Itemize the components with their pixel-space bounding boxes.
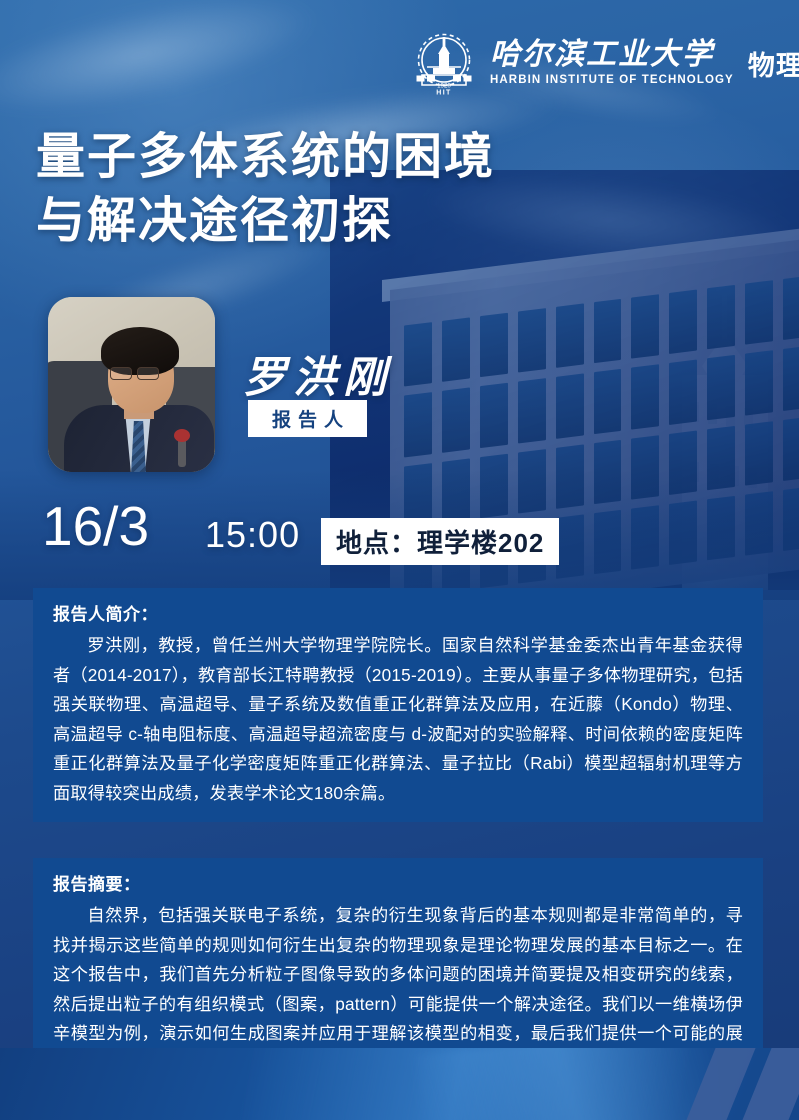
hit-emblem-icon: 1920 HIT	[408, 27, 480, 99]
event-time: 15:00	[205, 517, 300, 553]
bio-text: 罗洪刚，教授，曾任兰州大学物理学院院长。国家自然科学基金委杰出青年基金获得者（2…	[53, 631, 743, 808]
university-name-en: HARBIN INSTITUTE OF TECHNOLOGY	[490, 75, 734, 87]
microphone-head-icon	[174, 429, 190, 442]
seminar-poster: 1920 HIT 哈尔滨工业大学 HARBIN INSTITUTE OF TEC…	[0, 0, 799, 1120]
abstract-heading: 报告摘要：	[53, 870, 743, 895]
title-line-2: 与解决途径初探	[36, 190, 516, 254]
speaker-bio-panel: 报告人简介： 罗洪刚，教授，曾任兰州大学物理学院院长。国家自然科学基金委杰出青年…	[33, 588, 763, 822]
poster-title: 量子多体系统的困境 与解决途径初探	[36, 126, 516, 253]
university-name-cn: 哈尔滨工业大学	[490, 40, 734, 70]
speaker-role-badge: 报告人	[248, 400, 367, 437]
eyeglasses-icon	[137, 367, 159, 380]
speaker-photo	[48, 297, 215, 472]
title-line-1: 量子多体系统的困境	[36, 126, 516, 190]
department-name: 物理学院	[748, 44, 799, 83]
speaker-name: 罗洪刚	[243, 343, 393, 405]
footer-light-ray	[415, 1048, 725, 1120]
event-venue-badge: 地点：理学楼202	[321, 518, 559, 565]
university-name-block: 哈尔滨工业大学 HARBIN INSTITUTE OF TECHNOLOGY	[490, 40, 734, 87]
university-header: 1920 HIT 哈尔滨工业大学 HARBIN INSTITUTE OF TEC…	[408, 26, 786, 100]
event-date: 16/3	[42, 499, 149, 554]
eyeglasses-icon	[110, 367, 132, 380]
logo-abbr-text: HIT	[436, 90, 451, 97]
bio-heading: 报告人简介：	[53, 600, 743, 625]
footer-decoration	[0, 1048, 799, 1120]
logo-year-text: 1920	[437, 83, 451, 90]
